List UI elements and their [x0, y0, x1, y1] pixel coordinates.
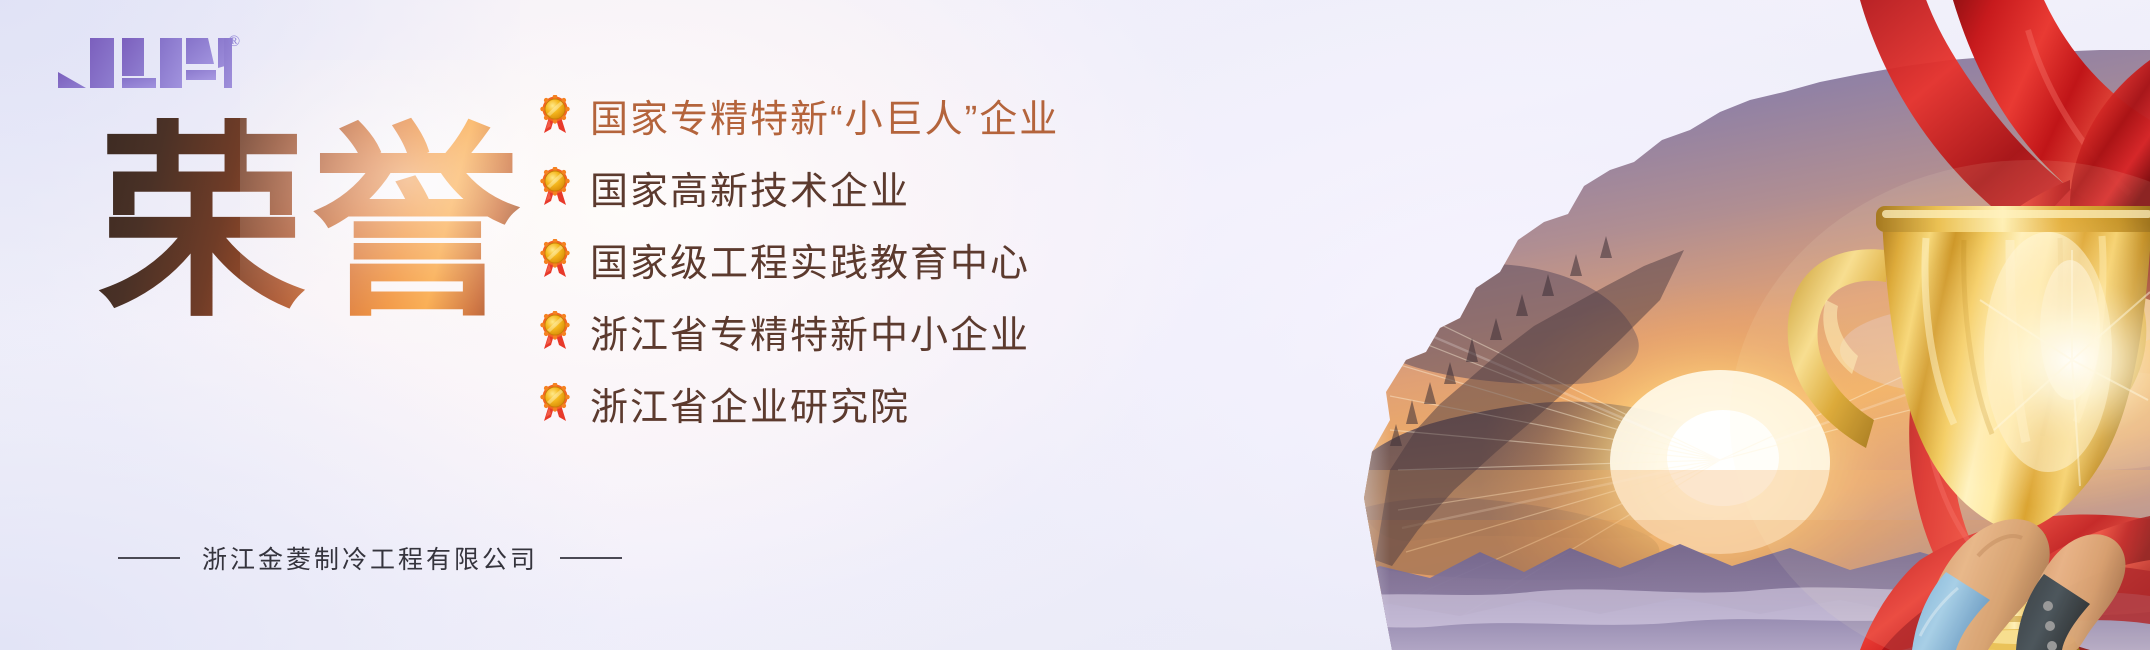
- company-name-text: 浙江金菱制冷工程有限公司: [202, 540, 538, 576]
- medal-rosette-icon: [540, 383, 570, 423]
- award-label: 浙江省企业研究院: [590, 376, 910, 431]
- medal-rosette-icon: [540, 167, 570, 207]
- medal-rosette-icon: [540, 95, 570, 135]
- medal-rosette-icon: [540, 239, 570, 279]
- jlt-logo-icon: [56, 30, 232, 88]
- page-title: 荣誉: [98, 116, 538, 346]
- background-vignette-bottom-left: [0, 320, 620, 650]
- award-item-5: 浙江省企业研究院: [540, 376, 1059, 430]
- trophy-artwork: [920, 0, 2150, 650]
- left-rule-divider: [118, 557, 180, 559]
- award-label: 国家级工程实践教育中心: [590, 232, 1030, 287]
- title-text: 荣誉: [98, 116, 538, 334]
- honor-banner: ® 荣誉: [0, 0, 2150, 650]
- award-label: 国家高新技术企业: [590, 160, 910, 215]
- award-label: 国家专精特新“小巨人”企业: [590, 88, 1059, 143]
- award-item-3: 国家级工程实践教育中心: [540, 232, 1059, 286]
- award-label: 浙江省专精特新中小企业: [590, 304, 1030, 359]
- award-item-1: 国家专精特新“小巨人”企业: [540, 88, 1059, 142]
- awards-list: 国家专精特新“小巨人”企业 国家高新技术企业: [540, 88, 1059, 430]
- company-name-line: 浙江金菱制冷工程有限公司: [118, 540, 622, 576]
- registered-trademark-icon: ®: [228, 34, 240, 50]
- company-logo[interactable]: ®: [56, 30, 256, 90]
- award-item-2: 国家高新技术企业: [540, 160, 1059, 214]
- medal-rosette-icon: [540, 311, 570, 351]
- award-item-4: 浙江省专精特新中小企业: [540, 304, 1059, 358]
- right-rule-divider: [560, 557, 622, 559]
